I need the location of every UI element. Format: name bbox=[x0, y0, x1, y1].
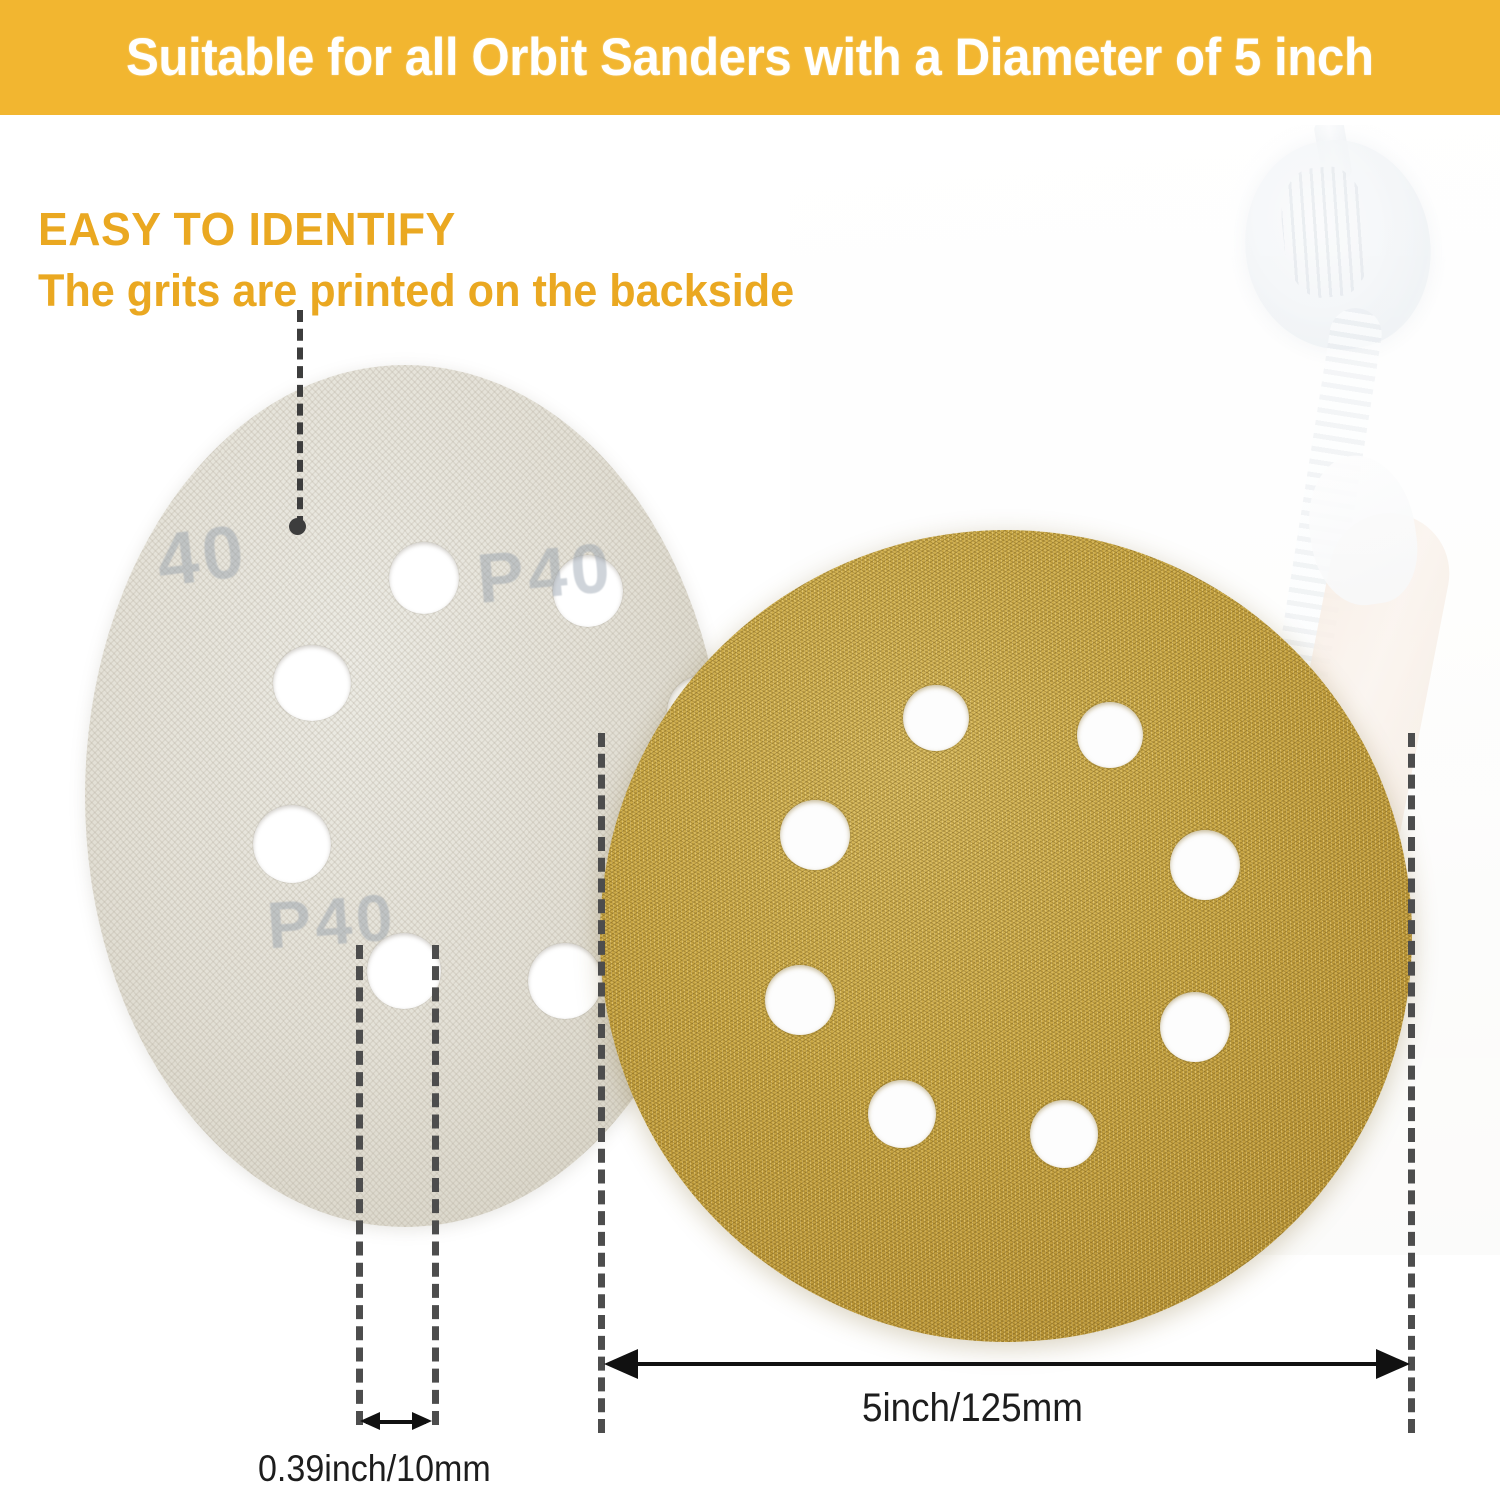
hole-dim-line-left bbox=[356, 945, 363, 1425]
hole-dimension-label: 0.39inch/10mm bbox=[258, 1448, 491, 1490]
hole-dim-arrow-right bbox=[412, 1412, 432, 1430]
disc-hole bbox=[1170, 830, 1240, 900]
disc-hole bbox=[253, 805, 331, 883]
disc-hole bbox=[273, 645, 351, 721]
disc-hole bbox=[765, 965, 835, 1035]
grit-print-bottom: P40 bbox=[265, 879, 399, 964]
headline-line-2: The grits are printed on the backside bbox=[38, 267, 794, 314]
grit-leader-line bbox=[297, 310, 303, 528]
disc-hole bbox=[1077, 702, 1143, 768]
headline-line-1: EASY TO IDENTIFY bbox=[38, 205, 802, 253]
banner-title: Suitable for all Orbit Sanders with a Di… bbox=[126, 27, 1374, 88]
disc-dimension-label: 5inch/125mm bbox=[862, 1386, 1083, 1431]
disc-dim-arrow-right bbox=[1376, 1349, 1410, 1379]
headline-block: EASY TO IDENTIFY The grits are printed o… bbox=[38, 205, 826, 315]
infographic-canvas: Suitable for all Orbit Sanders with a Di… bbox=[0, 0, 1500, 1500]
disc-hole bbox=[903, 685, 969, 751]
header-banner: Suitable for all Orbit Sanders with a Di… bbox=[0, 0, 1500, 115]
hole-dim-line-right bbox=[432, 945, 439, 1425]
grit-leader-dot bbox=[289, 518, 306, 535]
disc-hole bbox=[868, 1080, 936, 1148]
disc-hole bbox=[389, 542, 459, 614]
disc-hole bbox=[780, 800, 850, 870]
disc-hole bbox=[528, 943, 602, 1019]
hole-dim-arrow-left bbox=[360, 1412, 380, 1430]
disc-dim-line-left bbox=[598, 733, 605, 1433]
disc-abrasive-face bbox=[600, 530, 1412, 1342]
disc-hole bbox=[1030, 1100, 1098, 1168]
disc-dim-arrow-line bbox=[620, 1362, 1395, 1366]
disc-hole bbox=[1160, 992, 1230, 1062]
grit-print-top-left: 40 bbox=[152, 508, 252, 603]
grit-print-top-right: P40 bbox=[474, 527, 617, 619]
disc-dim-line-right bbox=[1408, 733, 1415, 1433]
disc-dim-arrow-left bbox=[604, 1349, 638, 1379]
